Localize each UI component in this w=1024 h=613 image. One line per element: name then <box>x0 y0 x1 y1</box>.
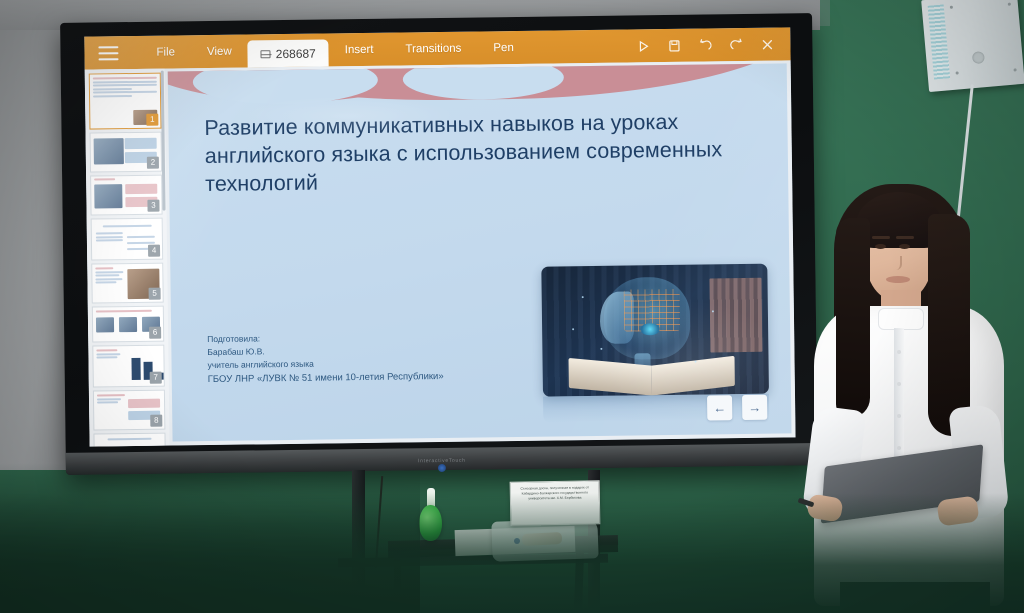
redo-icon[interactable] <box>729 37 743 51</box>
shirt-collar <box>878 308 924 330</box>
uv-air-recirculator <box>921 0 1024 92</box>
slide-number: 3 <box>147 200 159 212</box>
slide-thumbnail-1[interactable]: 1 <box>89 73 162 130</box>
interactive-whiteboard: File View 268687 Insert Transitions Pen <box>60 13 818 475</box>
slide-number: 2 <box>147 157 159 169</box>
slide-thumbnail-rail[interactable]: 1 2 3 <box>85 69 170 447</box>
document-tab-label: 268687 <box>276 46 316 61</box>
slide-thumbnail-2[interactable]: 2 <box>90 132 163 173</box>
editor-body: 1 2 3 <box>85 60 796 446</box>
next-slide-button[interactable]: → <box>742 395 767 420</box>
ai-brain-image[interactable] <box>541 264 769 397</box>
classroom-photo: File View 268687 Insert Transitions Pen <box>0 0 1024 613</box>
menu-item-transitions[interactable]: Transitions <box>389 42 477 55</box>
slide-thumbnail-3[interactable]: 3 <box>90 175 163 216</box>
toolbar-icons <box>636 37 774 53</box>
prev-slide-button[interactable]: ← <box>707 395 732 420</box>
board-indicator-light <box>438 464 446 472</box>
slide-canvas-area[interactable]: Развитие коммуникативных навыков на урок… <box>165 60 796 445</box>
undo-icon[interactable] <box>698 38 712 52</box>
slide-thumbnail-6[interactable]: 6 <box>92 306 164 343</box>
slide-number: 1 <box>146 114 158 126</box>
thumbnail-scrollbar[interactable] <box>161 71 166 211</box>
slide-author-block[interactable]: Подготовила: Барабаш Ю.В. учитель англий… <box>207 330 444 387</box>
play-icon[interactable] <box>636 39 650 53</box>
menu-item-pen[interactable]: Pen <box>477 41 530 54</box>
hair-strand-right <box>928 214 970 436</box>
document-tab[interactable]: 268687 <box>248 39 329 67</box>
uv-knob <box>972 51 985 64</box>
board-screen: File View 268687 Insert Transitions Pen <box>84 27 795 446</box>
slide-number: 7 <box>150 372 162 384</box>
menu-item-insert[interactable]: Insert <box>329 43 390 56</box>
document-icon <box>261 50 271 58</box>
slide-number: 8 <box>150 415 162 427</box>
slide-number: 4 <box>148 245 160 257</box>
books-stack <box>709 278 762 353</box>
slide-title[interactable]: Развитие коммуникативных навыков на урок… <box>204 108 745 199</box>
slide-wave-cut <box>192 63 378 105</box>
slide-thumbnail-7[interactable]: 7 <box>92 345 165 388</box>
floor-shadow <box>0 463 420 613</box>
slide-number: 5 <box>149 288 161 300</box>
save-icon[interactable] <box>667 38 681 52</box>
hair-strand-left <box>836 218 870 418</box>
open-book <box>569 360 735 392</box>
author-line-4: ГБОУ ЛНР «ЛУВК № 51 имени 10-летия Респу… <box>208 369 444 387</box>
lips <box>886 276 910 283</box>
menu-item-file[interactable]: File <box>140 46 191 59</box>
hamburger-icon[interactable] <box>98 46 118 60</box>
uv-vent-grille <box>928 4 950 79</box>
menu-item-view[interactable]: View <box>191 45 248 58</box>
close-icon[interactable] <box>760 37 774 51</box>
slide-thumbnail-4[interactable]: 4 <box>91 218 164 261</box>
slide-nav-buttons: ← → <box>707 395 767 421</box>
current-slide[interactable]: Развитие коммуникативных навыков на урок… <box>168 63 792 441</box>
slide-thumbnail-9[interactable]: 9 <box>93 433 165 447</box>
slide-number: 6 <box>149 327 161 339</box>
slide-thumbnail-8[interactable]: 8 <box>93 390 166 431</box>
slide-thumbnail-5[interactable]: 5 <box>91 263 164 304</box>
